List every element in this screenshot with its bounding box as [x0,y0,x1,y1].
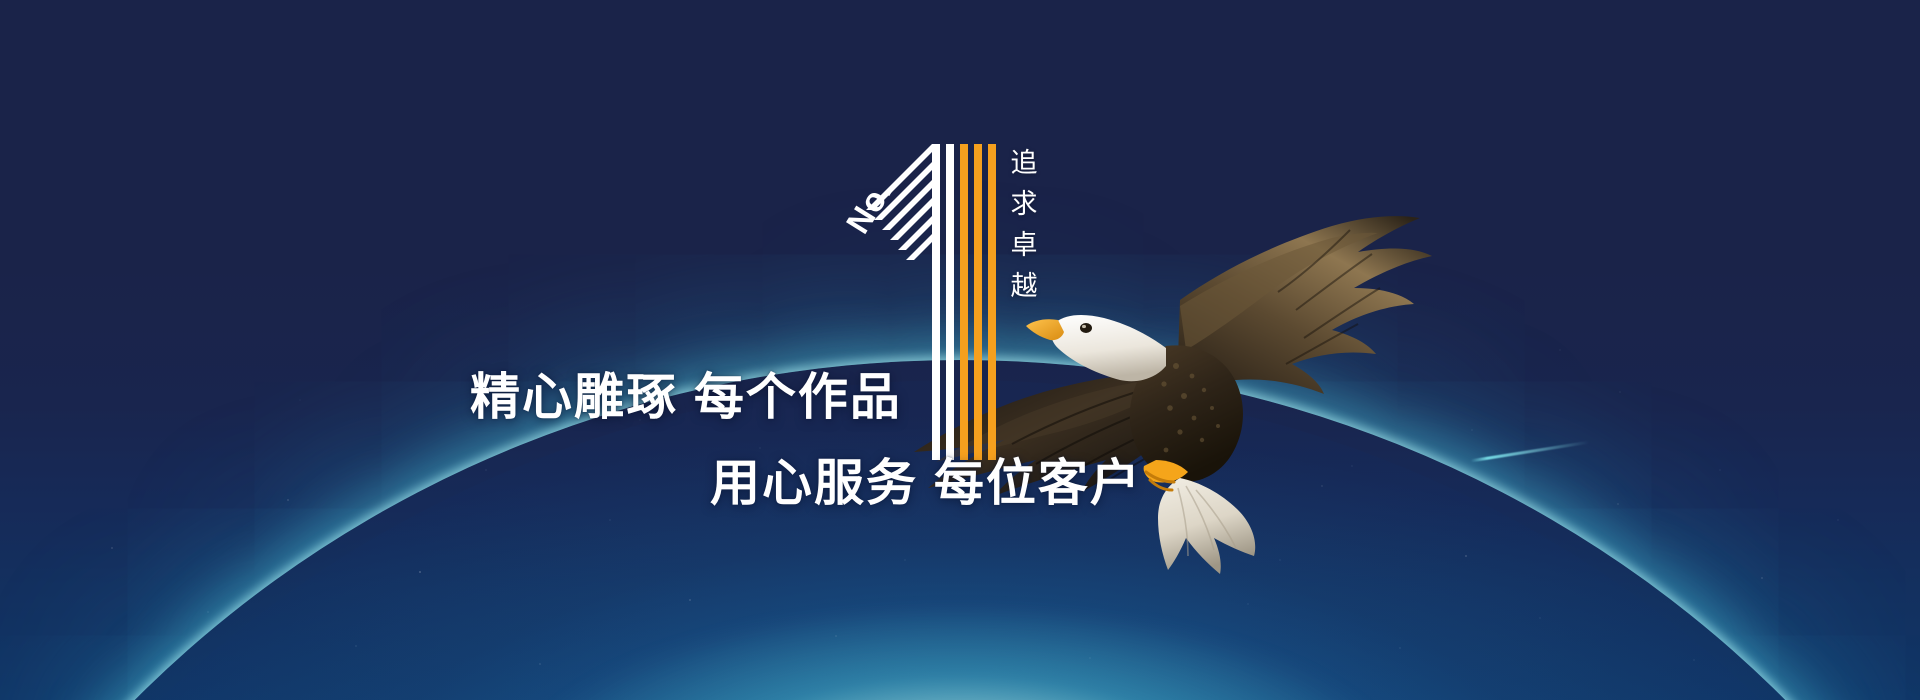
headline-block: 精心雕琢 每个作品 用心服务 每位客户 [0,372,1160,508]
headline-line-1: 精心雕琢 每个作品 [470,372,1160,422]
headline-line-2: 用心服务 每位客户 [710,458,1160,508]
vertical-slogan-char: 越 [1011,273,1038,300]
vertical-slogan-char: 求 [1011,191,1038,218]
logo-no-text: No. [839,174,900,241]
vertical-slogan: 追 求 卓 越 [1002,150,1046,300]
logo-no-prefix: No. [842,154,938,250]
hero-banner: No. 追 求 卓 越 精心雕琢 每个作品 用心服务 每位客户 [0,0,1920,700]
vertical-slogan-char: 追 [1011,150,1038,177]
vertical-slogan-char: 卓 [1011,232,1038,259]
